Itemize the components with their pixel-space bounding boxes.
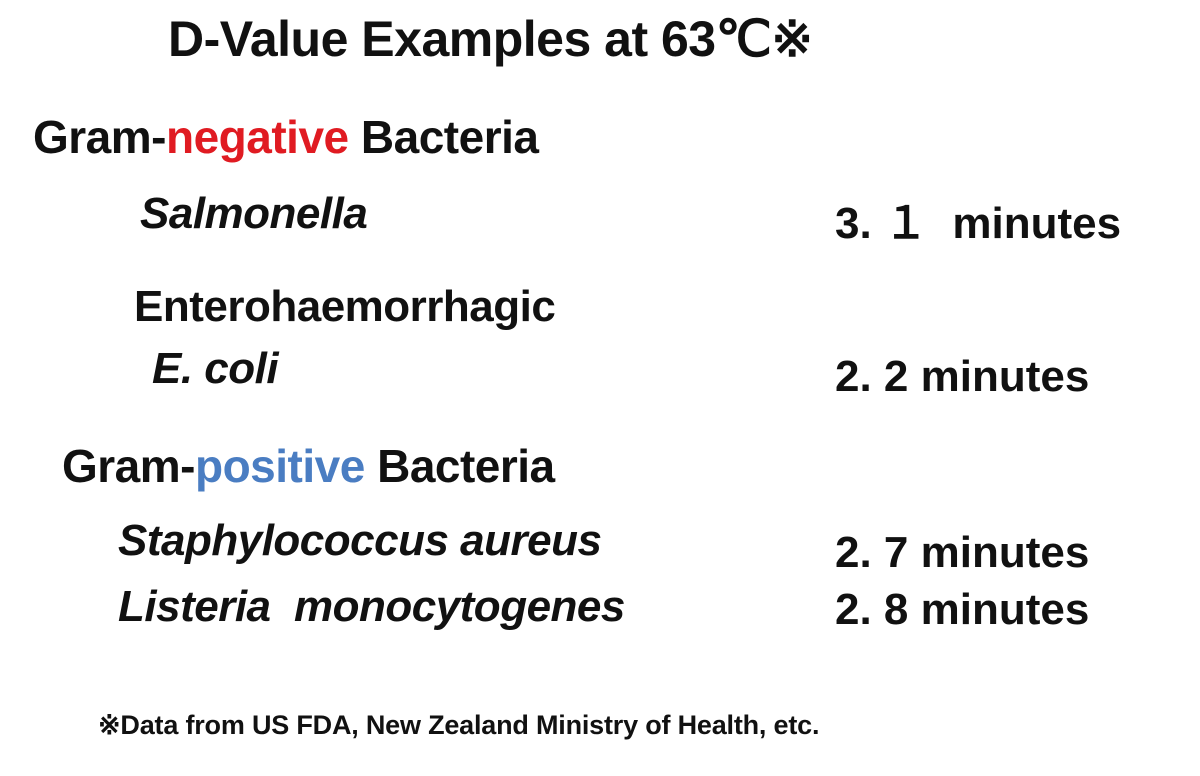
- d-value-salmonella: 3. １ minutes: [835, 202, 1121, 246]
- d-value-staphylococcus-aureus: 2. 7 minutes: [835, 531, 1089, 575]
- group-heading-highlight-negative: negative: [166, 111, 349, 163]
- group-heading-gram-negative: Gram-negative Bacteria: [33, 114, 538, 160]
- slide-canvas: D-Value Examples at 63℃※ Gram-negative B…: [0, 0, 1200, 776]
- d-value-ehec: 2. 2 minutes: [835, 355, 1089, 399]
- organism-name-ehec-line2: E. coli: [152, 347, 278, 391]
- page-title: D-Value Examples at 63℃※: [168, 14, 813, 64]
- organism-name-staphylococcus-aureus: Staphylococcus aureus: [118, 519, 601, 563]
- footnote-source: ※Data from US FDA, New Zealand Ministry …: [98, 712, 819, 739]
- group-heading-gram-positive: Gram-positive Bacteria: [62, 443, 555, 489]
- organism-name-ehec-line1: Enterohaemorrhagic: [134, 285, 555, 329]
- group-heading-prefix: Gram-: [33, 111, 166, 163]
- group-heading-highlight-positive: positive: [195, 440, 365, 492]
- organism-name-salmonella: Salmonella: [140, 192, 367, 236]
- group-heading-prefix: Gram-: [62, 440, 195, 492]
- organism-name-listeria-monocytogenes: Listeria monocytogenes: [118, 585, 625, 629]
- group-heading-suffix: Bacteria: [365, 440, 555, 492]
- d-value-listeria-monocytogenes: 2. 8 minutes: [835, 588, 1089, 632]
- group-heading-suffix: Bacteria: [349, 111, 539, 163]
